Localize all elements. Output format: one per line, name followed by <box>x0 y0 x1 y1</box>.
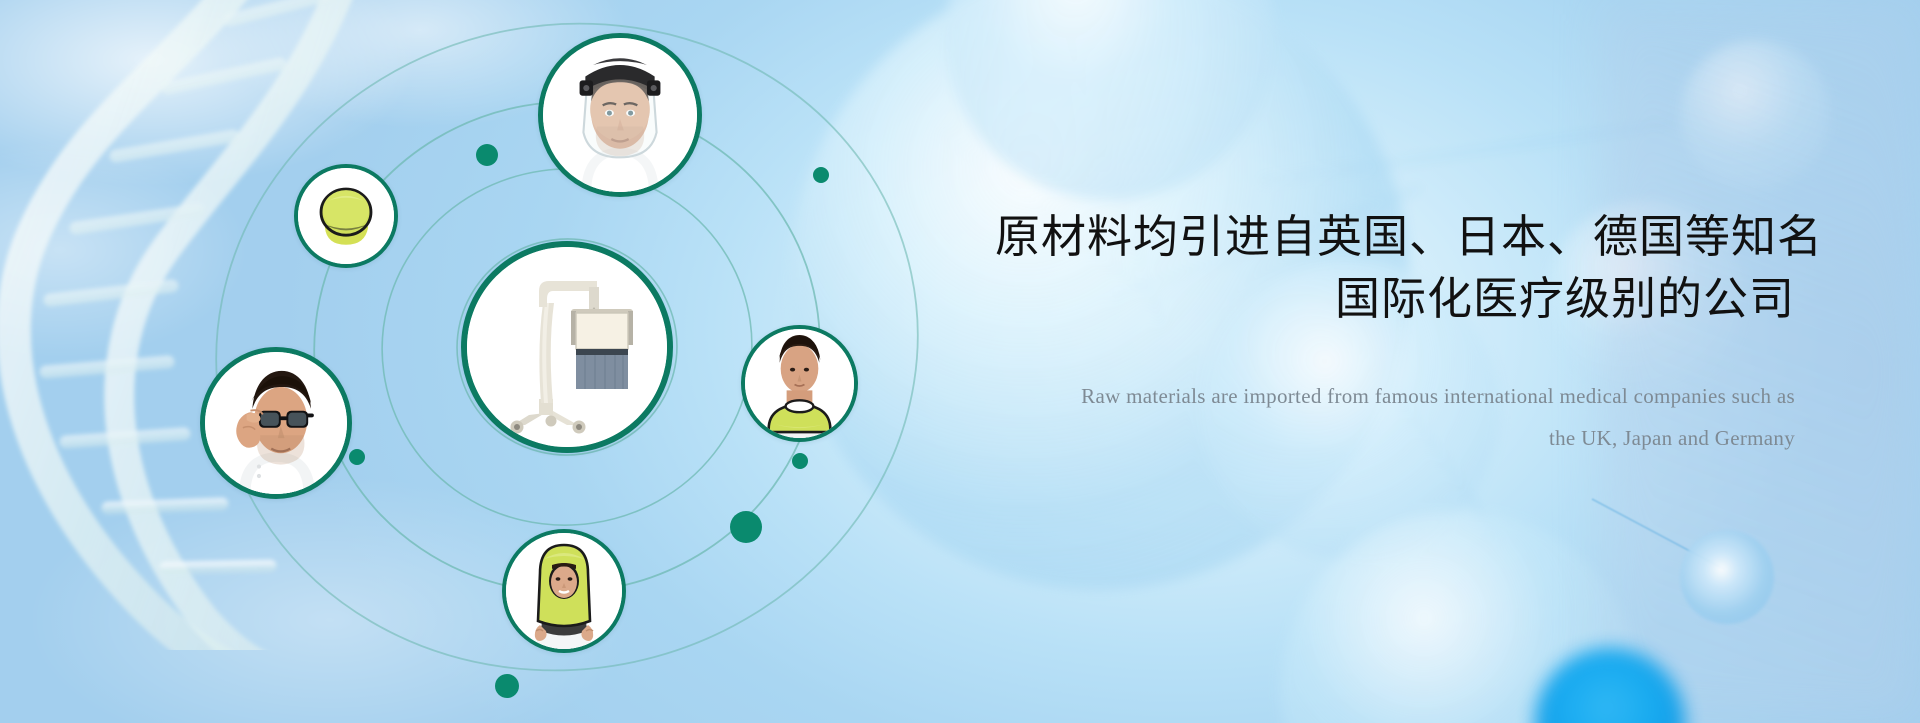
headline-line-1: 原材料均引进自英国、日本、德国等知名 <box>995 207 1795 267</box>
subtitle-block: Raw materials are imported from famous i… <box>995 375 1795 459</box>
banner-stage: 原材料均引进自英国、日本、德国等知名 国际化医疗级别的公司 Raw materi… <box>0 0 1920 723</box>
bubble-thyroid-collar[interactable] <box>741 325 858 442</box>
bubble-mobile-x-ray-screen[interactable] <box>461 241 673 453</box>
copy-block: 原材料均引进自英国、日本、德国等知名 国际化医疗级别的公司 Raw materi… <box>995 207 1795 459</box>
subtitle-line-2: the UK, Japan and Germany <box>995 417 1795 459</box>
orbit-node-top <box>476 144 498 166</box>
protective-cap-illustration <box>298 168 394 264</box>
headline-line-2: 国际化医疗级别的公司 <box>995 269 1795 329</box>
lead-glasses-illustration <box>205 352 347 494</box>
bubble-face-visor[interactable] <box>538 33 702 197</box>
blue-sphere-accent <box>1680 530 1774 624</box>
orbit-node-right <box>792 453 808 469</box>
subtitle-line-1: Raw materials are imported from famous i… <box>995 375 1795 417</box>
orbit-node-lower-right <box>730 511 762 543</box>
thyroid-collar-illustration <box>745 329 854 438</box>
bubble-protective-cap[interactable] <box>294 164 398 268</box>
protective-hood-illustration <box>506 533 622 649</box>
mobile-x-ray-screen-illustration <box>467 247 667 447</box>
orbit-node-left <box>349 449 365 465</box>
bubble-lead-glasses[interactable] <box>200 347 352 499</box>
face-visor-illustration <box>543 38 697 192</box>
bubble-protective-hood[interactable] <box>502 529 626 653</box>
orbit-node-upper-right <box>813 167 829 183</box>
orbit-node-bottom <box>495 674 519 698</box>
